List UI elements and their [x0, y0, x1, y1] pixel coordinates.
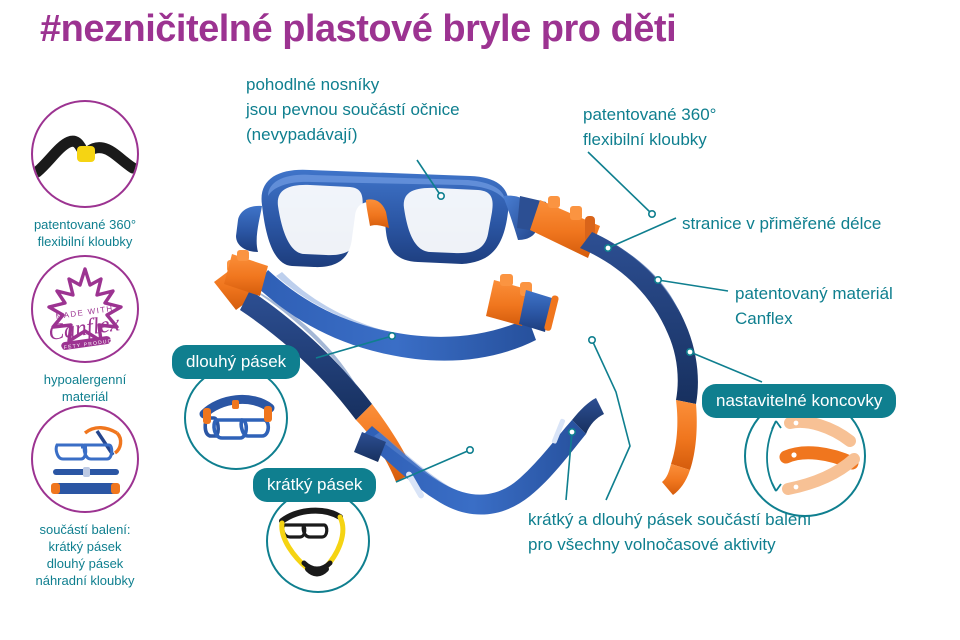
callout-temple-length: stranice v přiměřené délce	[682, 211, 881, 236]
callout-line: flexibilní kloubky	[583, 127, 716, 152]
caption-line: hypoalergenní	[0, 371, 170, 388]
right-temple-art	[530, 196, 698, 495]
sidebar-item-material: MADE WITH Canflex SAFETY PRODUCT hypoale…	[0, 255, 170, 405]
callout-line: Canflex	[735, 306, 893, 331]
lower-strap-art	[354, 398, 604, 515]
callout-straps: krátký a dlouhý pásek součástí balení pr…	[528, 507, 812, 557]
sidebar-caption: součástí balení: krátký pásek dlouhý pás…	[0, 521, 170, 589]
callout-line: (nevypadávají)	[246, 122, 460, 147]
glasses-frame-art	[236, 170, 546, 267]
callout-hinges: patentované 360° flexibilní kloubky	[583, 102, 716, 152]
caption-line: krátký pásek	[0, 538, 170, 555]
caption-line: součástí balení:	[0, 521, 170, 538]
callout-line: patentované 360°	[583, 102, 716, 127]
long-strap-photo	[184, 366, 288, 470]
callout-nose-pads: pohodlné nosníky jsou pevnou součástí oč…	[246, 72, 460, 147]
callout-line: stranice v přiměřené délce	[682, 211, 881, 236]
callout-material: patentovaný materiál Canflex	[735, 281, 893, 331]
badge-short-strap[interactable]: krátký pásek	[253, 468, 376, 502]
sidebar-item-hinges: patentované 360° flexibilní kloubky	[0, 100, 170, 250]
callout-line: pro všechny volnočasové aktivity	[528, 532, 812, 557]
sidebar-caption: patentované 360° flexibilní kloubky	[0, 216, 170, 250]
caption-line: dlouhý pásek	[0, 555, 170, 572]
badge-long-strap[interactable]: dlouhý pásek	[172, 345, 300, 379]
page-title: #nezničitelné plastové bryle pro děti	[40, 8, 676, 51]
callout-line: krátký a dlouhý pásek součástí balení	[528, 507, 812, 532]
package-contents-icon	[31, 405, 139, 513]
callout-line: jsou pevnou součástí očnice	[246, 97, 460, 122]
callout-line: patentovaný materiál	[735, 281, 893, 306]
callout-line: pohodlné nosníky	[246, 72, 460, 97]
hinge-360-icon	[31, 100, 139, 208]
caption-line: patentované 360°	[0, 216, 170, 233]
badge-adjustable-tips[interactable]: nastavitelné koncovky	[702, 384, 896, 418]
sidebar-caption: hypoalergenní materiál	[0, 371, 170, 405]
caption-line: náhradní kloubky	[0, 572, 170, 589]
leader-lines	[316, 152, 762, 500]
infographic-canvas: #nezničitelné plastové bryle pro děti	[0, 0, 960, 640]
short-strap-photo	[266, 489, 370, 593]
caption-line: materiál	[0, 388, 170, 405]
canflex-maple-leaf-icon: MADE WITH Canflex SAFETY PRODUCT	[31, 255, 139, 363]
sidebar-item-package: součástí balení: krátký pásek dlouhý pás…	[0, 405, 170, 589]
caption-line: flexibilní kloubky	[0, 233, 170, 250]
